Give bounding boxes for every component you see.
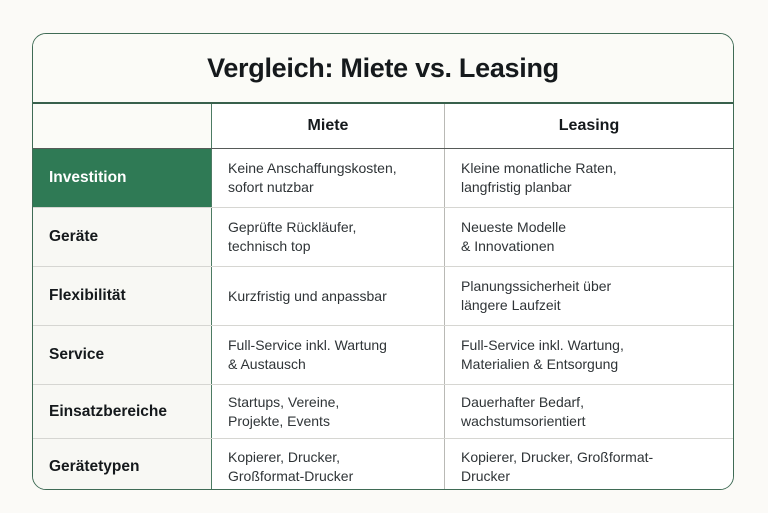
row-label-investition: Investition: [33, 149, 212, 207]
row-label-service: Service: [33, 326, 212, 384]
row-miete-text: Full-Service inkl. Wartung & Austausch: [228, 336, 428, 374]
row-label-text: Gerätetypen: [49, 458, 195, 476]
row-leasing-text: Kleine monatliche Raten, langfristig pla…: [461, 159, 717, 197]
row-cell-leasing: Full-Service inkl. Wartung, Materialien …: [445, 326, 733, 384]
row-cell-leasing: Neueste Modelle & Innovationen: [445, 208, 733, 266]
row-label-flexibilitaet: Flexibilität: [33, 267, 212, 325]
page-title: Vergleich: Miete vs. Leasing: [207, 53, 559, 84]
row-leasing-text: Full-Service inkl. Wartung, Materialien …: [461, 336, 717, 374]
row-label-einsatzbereiche: Einsatzbereiche: [33, 385, 212, 438]
row-cell-leasing: Dauerhafter Bedarf, wachstumsorientiert: [445, 385, 733, 438]
row-label-geraete: Geräte: [33, 208, 212, 266]
row-miete-text: Keine Anschaffungskosten, sofort nutzbar: [228, 159, 428, 197]
row-label-geraetetypen: Gerätetypen: [33, 439, 212, 490]
row-label-text: Geräte: [49, 228, 195, 246]
table-row: Gerätetypen Kopierer, Drucker, Großforma…: [33, 439, 733, 490]
row-label-text: Investition: [49, 169, 195, 187]
row-cell-miete: Kurzfristig und anpassbar: [212, 267, 445, 325]
row-leasing-text: Dauerhafter Bedarf, wachstumsorientiert: [461, 393, 717, 431]
row-leasing-text: Kopierer, Drucker, Großformat- Drucker: [461, 448, 717, 486]
row-miete-text: Geprüfte Rückläufer, technisch top: [228, 218, 428, 256]
row-leasing-text: Planungssicherheit über längere Laufzeit: [461, 277, 717, 315]
table-row: Investition Keine Anschaffungskosten, so…: [33, 149, 733, 208]
row-label-text: Einsatzbereiche: [49, 403, 195, 421]
row-cell-miete: Keine Anschaffungskosten, sofort nutzbar: [212, 149, 445, 207]
header-cell-leasing: Leasing: [445, 104, 733, 148]
table-row: Flexibilität Kurzfristig und anpassbar P…: [33, 267, 733, 326]
header-cell-label: [33, 104, 212, 148]
row-cell-miete: Startups, Vereine, Projekte, Events: [212, 385, 445, 438]
table-header-row: Miete Leasing: [33, 104, 733, 149]
comparison-table: Miete Leasing Investition Keine Anschaff…: [33, 104, 733, 490]
comparison-card: Vergleich: Miete vs. Leasing Miete Leasi…: [32, 33, 734, 490]
row-leasing-text: Neueste Modelle & Innovationen: [461, 218, 717, 256]
header-miete-text: Miete: [228, 117, 428, 135]
row-label-text: Service: [49, 346, 195, 364]
table-row: Einsatzbereiche Startups, Vereine, Proje…: [33, 385, 733, 439]
header-cell-miete: Miete: [212, 104, 445, 148]
card-title-band: Vergleich: Miete vs. Leasing: [33, 34, 733, 104]
row-miete-text: Startups, Vereine, Projekte, Events: [228, 393, 428, 431]
row-cell-miete: Full-Service inkl. Wartung & Austausch: [212, 326, 445, 384]
row-label-text: Flexibilität: [49, 287, 195, 305]
row-cell-leasing: Planungssicherheit über längere Laufzeit: [445, 267, 733, 325]
row-cell-miete: Geprüfte Rückläufer, technisch top: [212, 208, 445, 266]
row-cell-leasing: Kleine monatliche Raten, langfristig pla…: [445, 149, 733, 207]
table-row: Geräte Geprüfte Rückläufer, technisch to…: [33, 208, 733, 267]
header-leasing-text: Leasing: [461, 117, 717, 135]
row-miete-text: Kopierer, Drucker, Großformat-Drucker: [228, 448, 428, 486]
table-row: Service Full-Service inkl. Wartung & Aus…: [33, 326, 733, 385]
row-cell-leasing: Kopierer, Drucker, Großformat- Drucker: [445, 439, 733, 490]
row-miete-text: Kurzfristig und anpassbar: [228, 287, 428, 306]
row-cell-miete: Kopierer, Drucker, Großformat-Drucker: [212, 439, 445, 490]
